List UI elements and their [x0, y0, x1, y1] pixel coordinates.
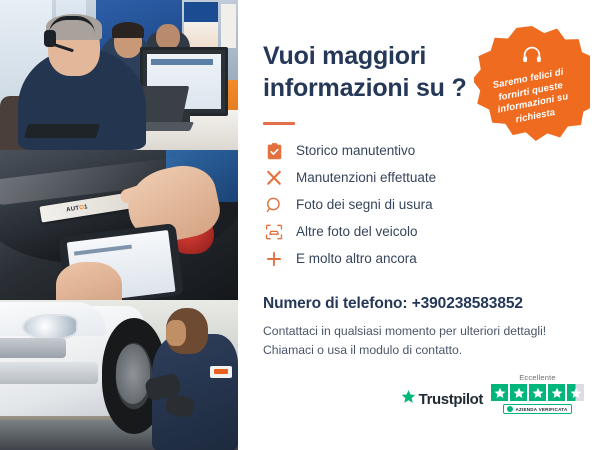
- star-icon: [510, 384, 527, 401]
- verified-label: AZIENDA VERIFICATA: [515, 407, 567, 412]
- trustpilot-logo: Trustpilot: [401, 389, 483, 414]
- verified-company-badge: AZIENDA VERIFICATA: [503, 404, 571, 414]
- content-panel: Vuoi maggiori informazioni su ? Saremo f…: [238, 0, 600, 450]
- phone-number[interactable]: Numero di telefono: +390238583852: [263, 295, 578, 313]
- feature-item-altro: E molto altro ancora: [263, 246, 578, 272]
- rating-caption: Eccellente: [519, 373, 556, 382]
- star-icon: [529, 384, 546, 401]
- feature-label: Altre foto del veicolo: [296, 225, 418, 239]
- trustpilot-wordmark: Trustpilot: [419, 391, 483, 408]
- trustpilot-widget[interactable]: Trustpilot Eccellente: [401, 373, 584, 414]
- feature-label: Manutenzioni effettuate: [296, 171, 436, 185]
- star-half-icon: [567, 384, 584, 401]
- photo-column: AUTO1: [0, 0, 238, 450]
- contact-note-line-2: Chiamaci o usa il modulo di contatto.: [263, 341, 578, 360]
- feature-item-foto-usura: Foto dei segni di usura: [263, 192, 578, 218]
- wrench-screwdriver-icon: [263, 167, 285, 189]
- page-title: Vuoi maggiori informazioni su ?: [263, 40, 478, 104]
- photo-bumper-inspection: AUTO1: [0, 150, 238, 300]
- support-badge: Saremo felici di fornirti queste informa…: [474, 26, 590, 142]
- photo-tyre-service: [0, 300, 238, 450]
- photo-call-center: [0, 0, 238, 150]
- car-frame-icon: [263, 221, 285, 243]
- star-icon: [548, 384, 565, 401]
- magnifier-icon: [263, 194, 285, 216]
- plus-icon: [263, 248, 285, 270]
- feature-label: E molto altro ancora: [296, 252, 417, 266]
- trustpilot-star-icon: [401, 389, 416, 409]
- title-divider: [263, 122, 295, 125]
- headset-icon: [521, 44, 543, 71]
- promo-banner: AUTO1 Vuoi maggiori in: [0, 0, 600, 450]
- star-rating: [491, 384, 584, 401]
- trustpilot-rating: Eccellente: [491, 373, 584, 414]
- feature-label: Foto dei segni di usura: [296, 198, 433, 212]
- feature-item-altre-foto: Altre foto del veicolo: [263, 219, 578, 245]
- feature-label: Storico manutentivo: [296, 144, 415, 158]
- feature-item-manutenzioni: Manutenzioni effettuate: [263, 165, 578, 191]
- star-icon: [491, 384, 508, 401]
- contact-note: Contattaci in qualsiasi momento per ulte…: [263, 322, 578, 361]
- clipboard-check-icon: [263, 140, 285, 162]
- feature-list: Storico manutentivo Manutenzioni effettu…: [263, 138, 578, 272]
- verified-check-icon: [507, 406, 513, 412]
- contact-note-line-1: Contattaci in qualsiasi momento per ulte…: [263, 322, 578, 341]
